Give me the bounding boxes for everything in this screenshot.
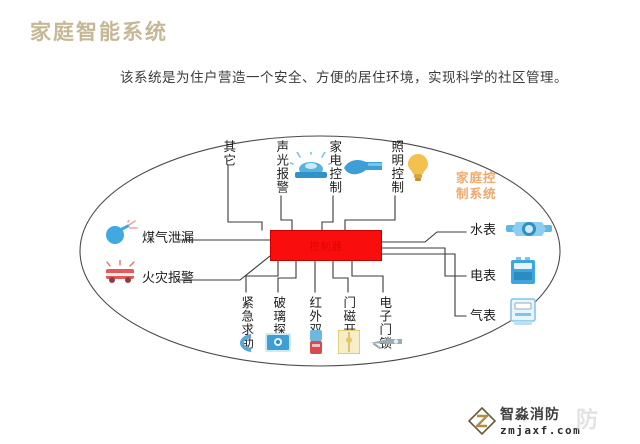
- connector-gas-meter: [380, 254, 466, 316]
- connector-appliance-control: [322, 196, 333, 230]
- infrared-detector-icon: [308, 330, 324, 354]
- system-caption: 家庭控 制系统: [456, 170, 512, 201]
- connector-sound-light-alarm: [281, 196, 292, 230]
- node-label-water-meter: 水表: [470, 224, 496, 238]
- node-label-electric-meter: 电表: [470, 270, 496, 284]
- fire-truck-icon: [102, 260, 140, 286]
- system-caption-line2: 制系统: [456, 186, 512, 202]
- watermark-url: zmjaxf.com: [500, 424, 581, 437]
- connector-emergency-help: [246, 259, 278, 292]
- node-label-lighting-control: 照明控制: [390, 140, 403, 200]
- system-caption-line1: 家庭控: [456, 170, 512, 186]
- page-title: 家庭智能系统: [30, 16, 168, 46]
- page-subtitle: 该系统是为住户营造一个安全、方便的居住环境，实现科学的社区管理。: [120, 66, 590, 86]
- node-label-sound-light-alarm: 声光报警: [275, 140, 288, 200]
- node-label-other: 其它: [222, 140, 235, 190]
- connector-lighting-control: [345, 196, 395, 230]
- watermark-ghost-char: 防: [576, 402, 598, 434]
- slide-root: 家庭智能系统 该系统是为住户营造一个安全、方便的居住环境，实现科学的社区管理。: [0, 0, 640, 444]
- node-label-gas-leak: 煤气泄漏: [142, 232, 194, 246]
- home-controller-box[interactable]: 控制器: [270, 230, 382, 261]
- connector-water-meter: [380, 232, 466, 242]
- diamond-logo-icon: [468, 407, 496, 435]
- watermark: 智淼消防 zmjaxf.com 防: [468, 404, 638, 440]
- door-contact-icon: [338, 330, 360, 354]
- system-diagram: 控制器 家庭控 制系统 其它 声光报警 家电控制 照: [0, 104, 640, 394]
- connector-electric-meter: [380, 248, 466, 276]
- gas-leak-icon: [104, 220, 138, 246]
- remote-hand-icon: [342, 156, 386, 180]
- connector-glass-break: [278, 259, 296, 292]
- node-label-gas-meter: 气表: [470, 310, 496, 324]
- node-label-fire-alarm: 火灾报警: [142, 272, 194, 286]
- siren-light-icon: [290, 152, 332, 182]
- connector-electronic-lock: [352, 259, 383, 292]
- node-label-appliance-control: 家电控制: [328, 140, 341, 200]
- home-controller-label: 控制器: [310, 238, 343, 253]
- light-bulb-icon: [406, 152, 430, 184]
- water-meter-icon: [506, 218, 552, 240]
- glass-break-detector-icon: [265, 333, 291, 352]
- connector-door-contact: [333, 259, 348, 292]
- phone-handset-icon: [238, 332, 256, 354]
- electric-meter-icon: [508, 256, 538, 288]
- electronic-lock-icon: [368, 334, 404, 350]
- gas-meter-icon: [508, 296, 538, 328]
- watermark-brand: 智淼消防: [500, 404, 581, 424]
